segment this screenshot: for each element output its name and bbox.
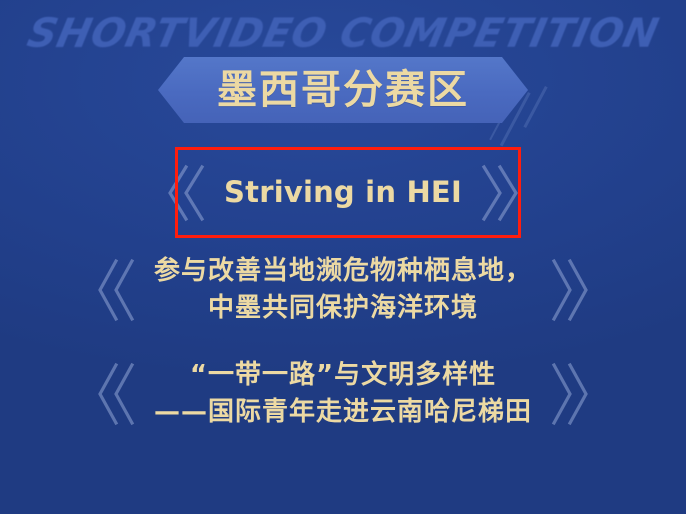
region-banner-title: 墨西哥分赛区 — [217, 70, 469, 110]
presentation-slide: SHORTVIDEO COMPETITION 墨西哥分赛区 Striving i… — [0, 0, 686, 514]
entry-list: Striving in HEI 参与改善当地濒危物种栖息地， 中墨共同保护海洋环… — [0, 147, 686, 442]
entry-row-english: Striving in HEI — [0, 147, 686, 238]
region-banner-hexagon: 墨西哥分赛区 — [158, 57, 528, 123]
entry-title-chinese-2: “一带一路”与文明多样性 ——国际青年走进云南哈尼梯田 — [154, 357, 532, 431]
double-chevron-left-icon — [166, 163, 206, 223]
double-chevron-left-icon — [96, 361, 136, 427]
entry-row-chinese-2: “一带一路”与文明多样性 ——国际青年走进云南哈尼梯田 — [0, 346, 686, 442]
region-banner-container: 墨西哥分赛区 — [0, 57, 686, 123]
double-chevron-left-icon — [96, 257, 136, 323]
entry-row-chinese-1: 参与改善当地濒危物种栖息地， 中墨共同保护海洋环境 — [0, 242, 686, 338]
background-wordmark: SHORTVIDEO COMPETITION — [9, 14, 678, 54]
double-chevron-right-icon — [550, 361, 590, 427]
entry-title-chinese-1: 参与改善当地濒危物种栖息地， 中墨共同保护海洋环境 — [154, 253, 532, 327]
double-chevron-right-icon — [480, 163, 520, 223]
entry-title-english: Striving in HEI — [224, 178, 462, 207]
double-chevron-right-icon — [550, 257, 590, 323]
